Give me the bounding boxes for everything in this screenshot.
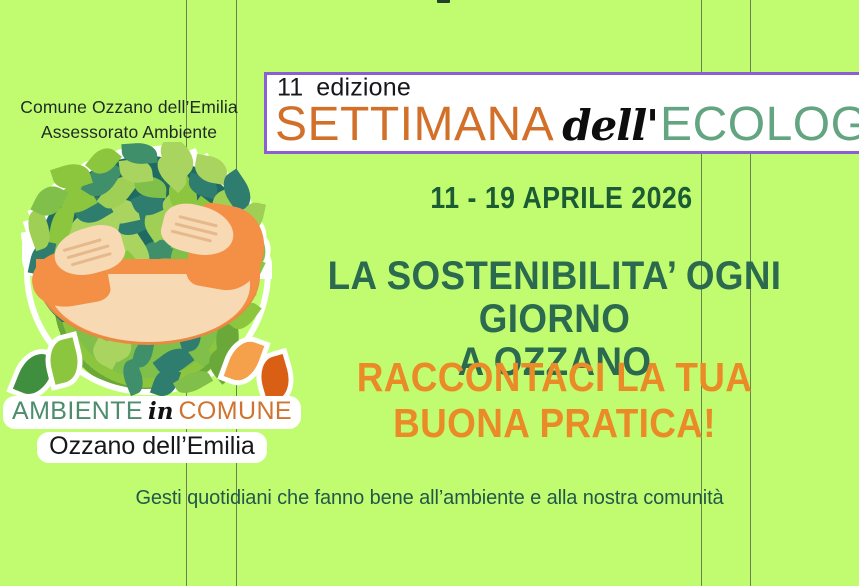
- banner-word-dell: dell': [562, 101, 658, 150]
- logo-word-in: in: [148, 398, 173, 425]
- logo-word-comune: COMUNE: [178, 397, 292, 425]
- banner-word-settimana: SETTIMANA: [275, 98, 554, 151]
- logo-word-ambiente: AMBIENTE: [12, 397, 143, 425]
- logo-wordmark-line1: AMBIENTEinCOMUNE: [3, 396, 301, 429]
- top-edge-artifact: [437, 0, 450, 3]
- ambiente-in-comune-logo: AMBIENTEinCOMUNE Ozzano dell’Emilia: [2, 152, 302, 462]
- poster-canvas: Comune Ozzano dell’Emilia Assessorato Am…: [0, 0, 859, 586]
- edition-ordinal: ª: [303, 72, 309, 82]
- logo-wordmark: AMBIENTEinCOMUNE Ozzano dell’Emilia: [2, 396, 302, 463]
- strapline: Gesti quotidiani che fanno bene all’ambi…: [0, 487, 859, 510]
- logo-subtitle: Ozzano dell’Emilia: [37, 432, 267, 463]
- event-dates: 11 - 19 APRILE 2026: [306, 180, 818, 216]
- call-to-action-headline: RACCONTACI LA TUA BUONA PRATICA!: [280, 355, 828, 447]
- banner-title: SETTIMANAdell'ECOLOGIA: [275, 101, 859, 149]
- deco-leaf-dark-orange: [256, 354, 294, 402]
- comune-header-text: Comune Ozzano dell’Emilia Assessorato Am…: [0, 95, 258, 146]
- banner-word-ecologia: ECOLOGIA: [660, 98, 859, 151]
- settimana-ecologia-banner: 11ª edizione SETTIMANAdell'ECOLOGIA: [264, 72, 859, 154]
